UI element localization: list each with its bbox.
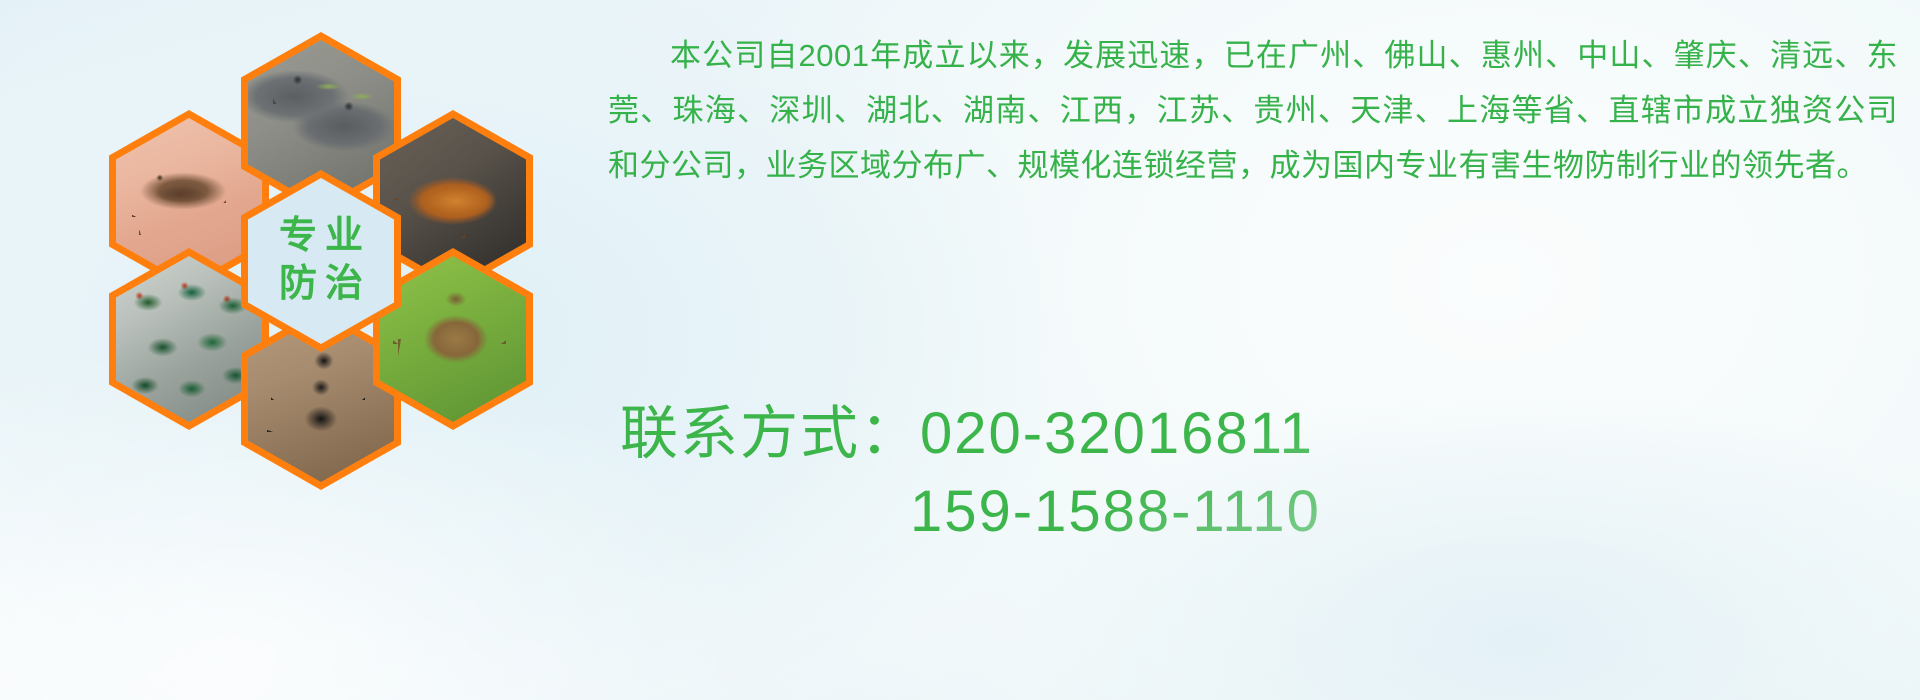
contact-mobile-line[interactable]: 159-1588-1110 xyxy=(620,473,1920,551)
copy-column: 本公司自2001年成立以来，发展迅速，已在广州、佛山、惠州、中山、肇庆、清远、东… xyxy=(608,28,1908,193)
company-intro-paragraph: 本公司自2001年成立以来，发展迅速，已在广州、佛山、惠州、中山、肇庆、清远、东… xyxy=(608,28,1898,193)
hex-inner xyxy=(116,256,262,422)
slogan-text: 专业 防治 xyxy=(248,178,394,344)
slogan-line-2: 防治 xyxy=(271,265,371,305)
promo-banner: 专业 防治 本公司自2001年成立以来，发展迅速，已在广州、佛山、惠州、中山、肇… xyxy=(0,0,1920,700)
contact-block: 联系方式：020-32016811 159-1588-1110 xyxy=(620,395,1920,551)
stink-bug-photo xyxy=(380,256,526,422)
hex-inner xyxy=(380,256,526,422)
fly-photo xyxy=(116,256,262,422)
slogan-line-1: 专业 xyxy=(271,217,371,257)
hex-inner: 专业 防治 xyxy=(248,178,394,344)
honeycomb-image-cluster: 专业 防治 xyxy=(95,10,595,570)
contact-landline-line[interactable]: 联系方式：020-32016811 xyxy=(620,395,1920,473)
